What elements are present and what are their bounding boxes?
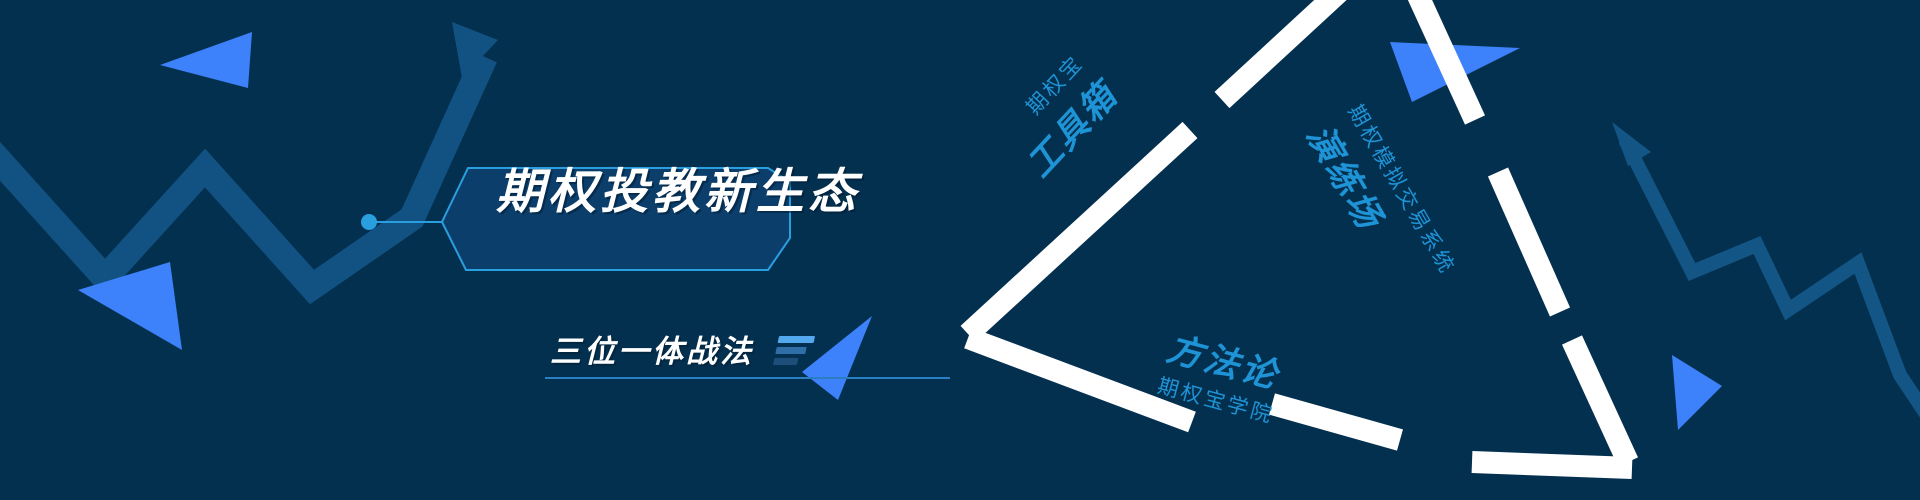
bars-icon-line-2 bbox=[775, 347, 806, 354]
subtitle-row: 三位一体战法 bbox=[550, 326, 812, 371]
bars-icon-line-3 bbox=[773, 358, 798, 365]
page-title: 期权投教新生态 bbox=[496, 152, 860, 222]
dot-node bbox=[361, 214, 377, 230]
subtitle-text: 三位一体战法 bbox=[550, 326, 754, 371]
bars-icon bbox=[773, 336, 815, 365]
promo-banner: 期权投教新生态 三位一体战法 期权宝 工具箱 期权模拟交易系统 演练场 方法论 … bbox=[0, 0, 1920, 500]
background-artwork bbox=[0, 0, 1920, 500]
bars-icon-line-1 bbox=[778, 336, 815, 343]
